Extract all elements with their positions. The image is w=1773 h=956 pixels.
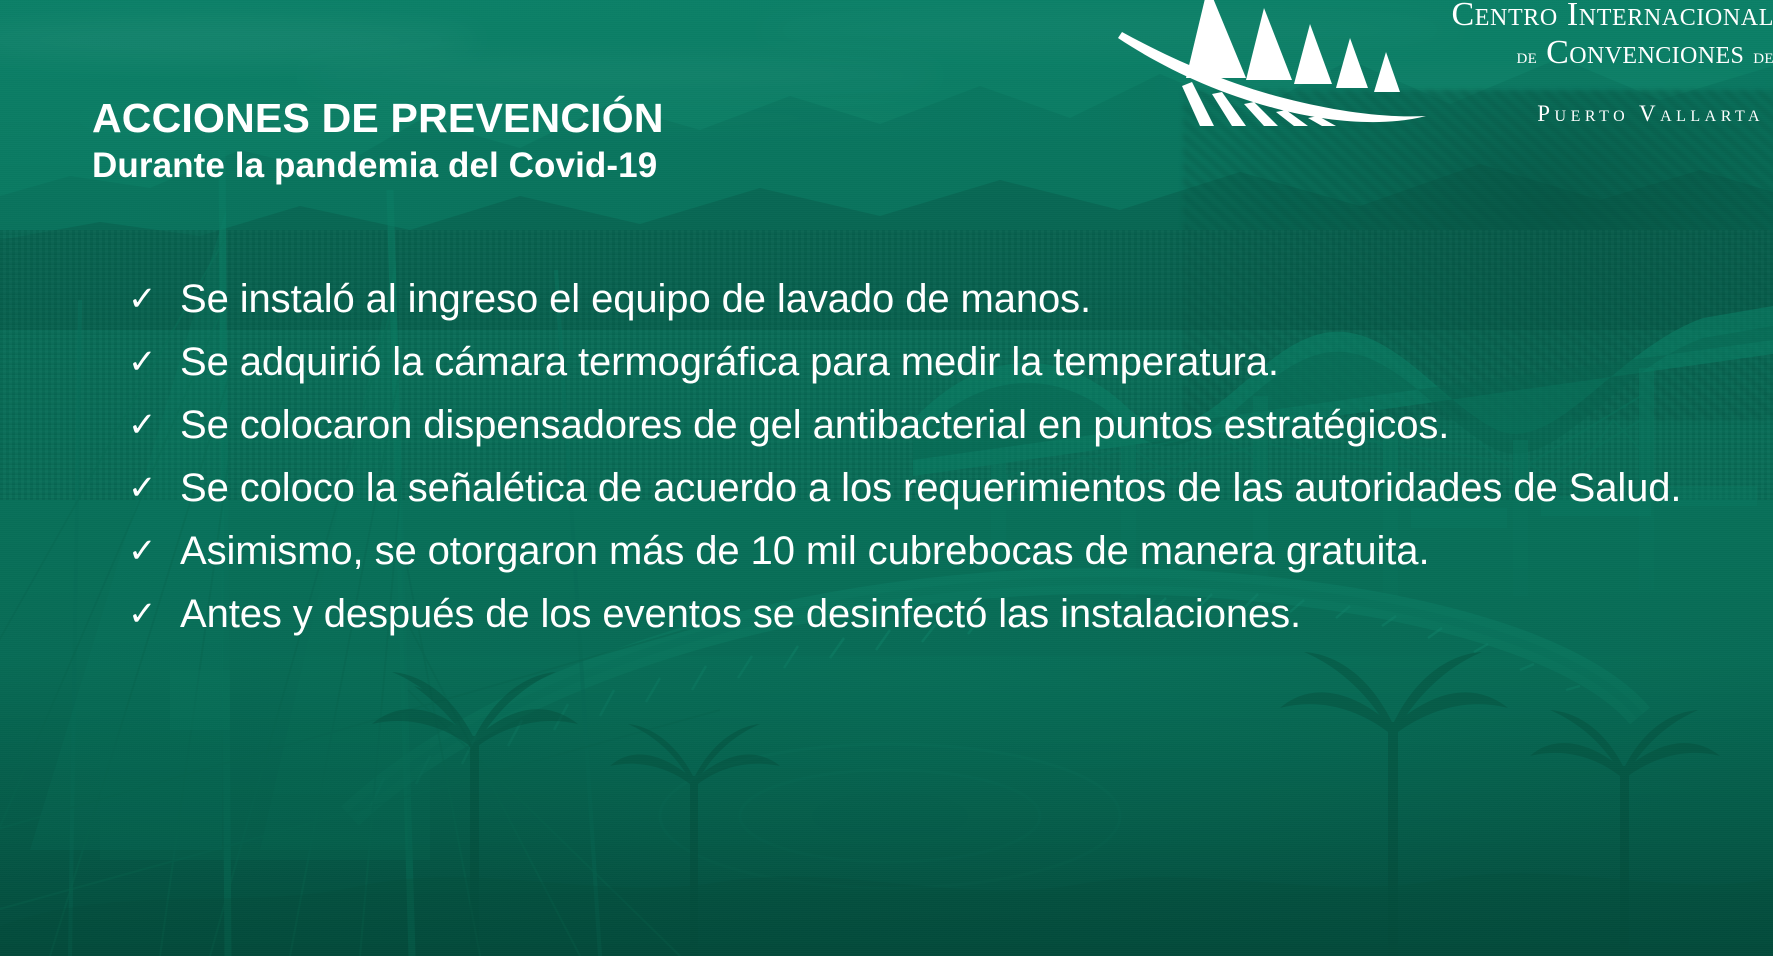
check-icon: ✓ xyxy=(128,520,180,583)
prevention-actions-list: ✓ Se instaló al ingreso el equipo de lav… xyxy=(128,268,1688,646)
title-block: ACCIONES DE PREVENCIÓN Durante la pandem… xyxy=(92,94,664,189)
list-item: ✓ Se coloco la señalética de acuerdo a l… xyxy=(128,457,1688,520)
slide-content: Centro Internacional de Convenciones de … xyxy=(0,0,1773,956)
logo-line-3: Puerto Vallarta xyxy=(1304,101,1773,127)
page-subtitle: Durante la pandemia del Covid-19 xyxy=(92,143,664,189)
list-item: ✓ Se colocaron dispensadores de gel anti… xyxy=(128,394,1688,457)
logo-line-2-main: Convenciones xyxy=(1546,34,1744,71)
organization-logo: Centro Internacional de Convenciones de … xyxy=(1096,0,1773,126)
logo-wordmark: Centro Internacional de Convenciones de … xyxy=(1304,0,1773,127)
list-item-label: Antes y después de los eventos se desinf… xyxy=(180,583,1688,646)
list-item-label: Se coloco la señalética de acuerdo a los… xyxy=(180,457,1688,520)
check-icon: ✓ xyxy=(128,583,180,646)
logo-line-2: de Convenciones de xyxy=(1304,34,1773,75)
list-item-label: Se colocaron dispensadores de gel antiba… xyxy=(180,394,1688,457)
logo-line-1: Centro Internacional xyxy=(1304,0,1773,34)
presentation-slide: Centro Internacional de Convenciones de … xyxy=(0,0,1773,956)
check-icon: ✓ xyxy=(128,331,180,394)
list-item: ✓ Antes y después de los eventos se desi… xyxy=(128,583,1688,646)
logo-line-2-suffix: de xyxy=(1753,43,1773,68)
logo-line-2-prefix: de xyxy=(1516,43,1537,68)
list-item: ✓ Se instaló al ingreso el equipo de lav… xyxy=(128,268,1688,331)
list-item: ✓ Se adquirió la cámara termográfica par… xyxy=(128,331,1688,394)
page-title: ACCIONES DE PREVENCIÓN xyxy=(92,94,664,143)
check-icon: ✓ xyxy=(128,457,180,520)
list-item-label: Se adquirió la cámara termográfica para … xyxy=(180,331,1688,394)
check-icon: ✓ xyxy=(128,394,180,457)
check-icon: ✓ xyxy=(128,268,180,331)
list-item-label: Asimismo, se otorgaron más de 10 mil cub… xyxy=(180,520,1688,583)
list-item: ✓ Asimismo, se otorgaron más de 10 mil c… xyxy=(128,520,1688,583)
list-item-label: Se instaló al ingreso el equipo de lavad… xyxy=(180,268,1688,331)
